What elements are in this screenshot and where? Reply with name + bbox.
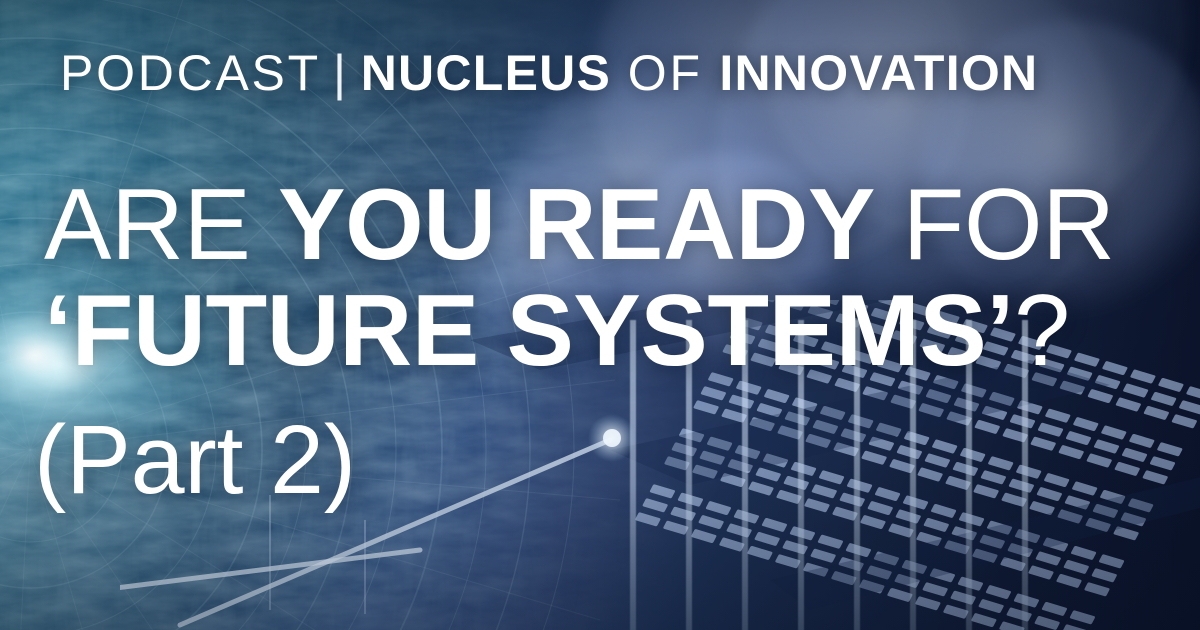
podcast-banner: PODCAST|NUCLEUS OF INNOVATION ARE YOU RE… — [0, 0, 1200, 630]
show-name-of: OF — [628, 45, 703, 101]
kicker-divider: | — [321, 45, 361, 101]
title-word-for: FOR — [903, 169, 1115, 281]
title-words-you-ready: YOU READY — [278, 169, 875, 281]
kicker-label: PODCAST — [60, 45, 321, 101]
podcast-kicker: PODCAST|NUCLEUS OF INNOVATION — [60, 48, 1038, 98]
episode-title: ARE YOU READY FOR ‘FUTURE SYSTEMS’? — [44, 172, 1164, 384]
episode-title-line-2: ‘FUTURE SYSTEMS’? — [44, 278, 1164, 384]
title-quoted-future-systems: ‘FUTURE SYSTEMS’ — [44, 275, 1014, 387]
title-word-are: ARE — [44, 169, 250, 281]
banner-content: PODCAST|NUCLEUS OF INNOVATION ARE YOU RE… — [0, 0, 1200, 630]
episode-part-label: (Part 2) — [34, 411, 356, 508]
episode-title-line-1: ARE YOU READY FOR — [44, 172, 1164, 278]
show-name-part2: INNOVATION — [719, 45, 1038, 101]
show-name-part1: NUCLEUS — [361, 45, 611, 101]
title-question-mark: ? — [1014, 275, 1070, 387]
